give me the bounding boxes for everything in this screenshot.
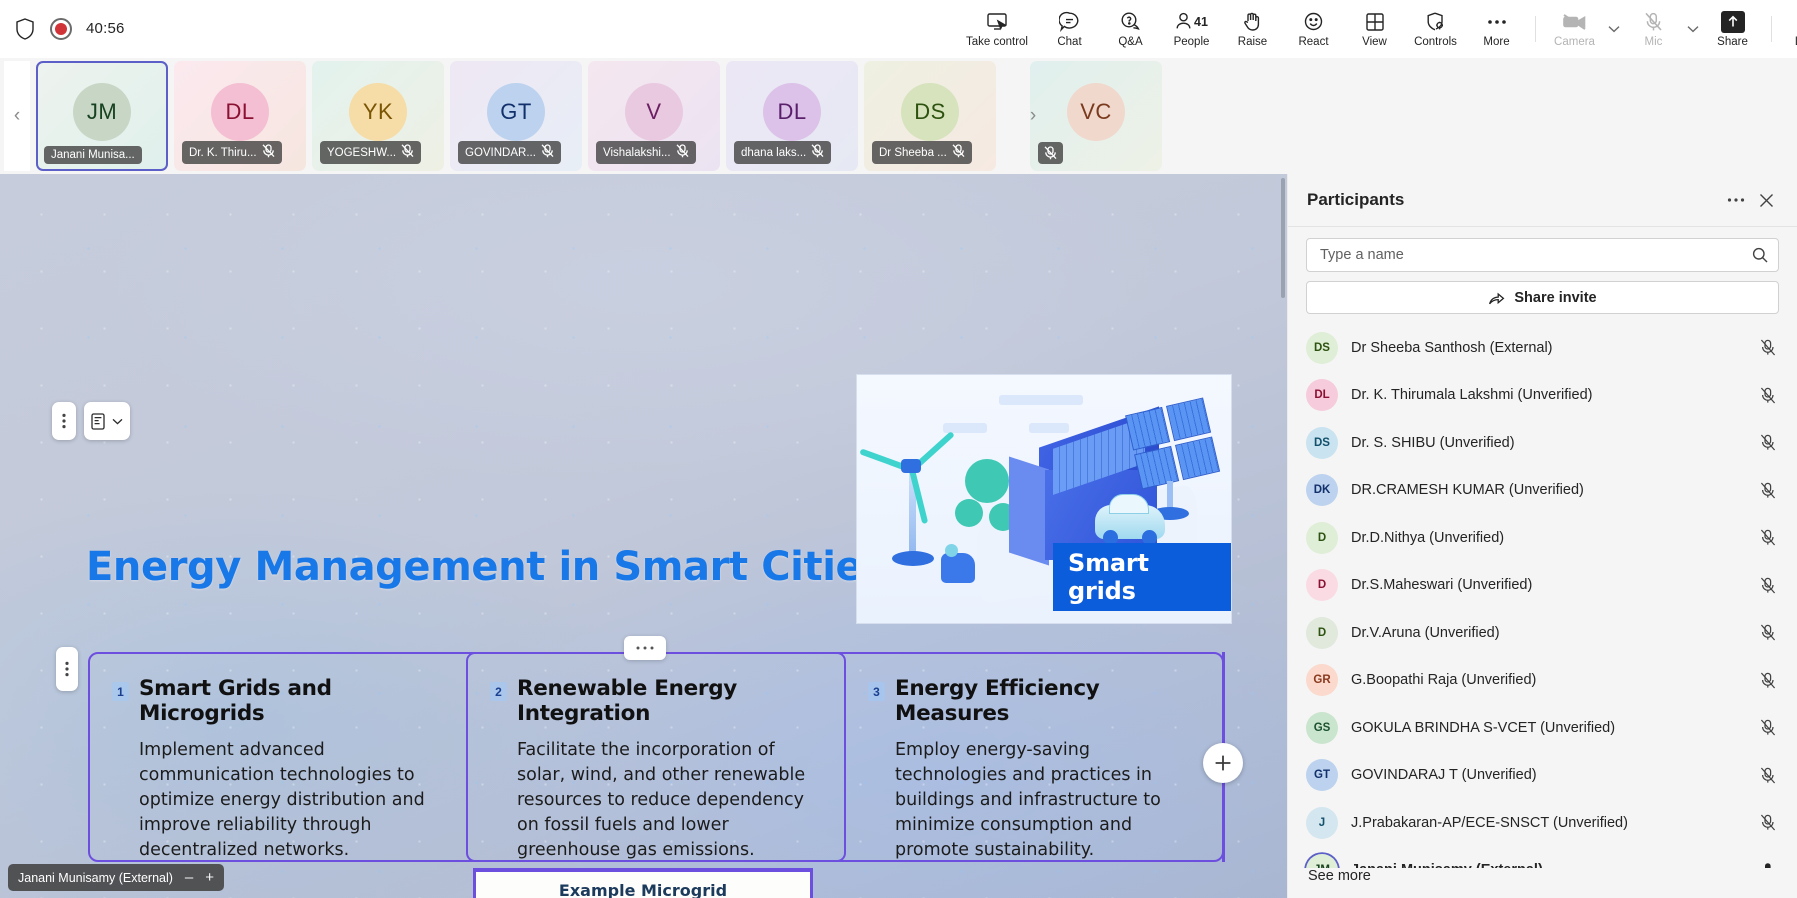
- toolbar-camera-label: Camera: [1554, 36, 1595, 48]
- participant-name: Janani Munisamy (External): [1351, 862, 1744, 868]
- chat-icon: [1059, 11, 1080, 33]
- card-body-3: Employ energy-saving technologies and pr…: [895, 738, 1202, 863]
- avatar: D: [1306, 617, 1338, 649]
- toolbar-react-button[interactable]: React: [1283, 3, 1344, 55]
- see-more-button[interactable]: See more: [1288, 868, 1797, 898]
- mic-off-icon[interactable]: [1757, 672, 1779, 689]
- share-up-arrow-icon: [1721, 11, 1745, 33]
- slide-notes-button[interactable]: [84, 402, 130, 440]
- toolbar-raise-label: Raise: [1238, 36, 1267, 48]
- mic-off-icon: [952, 144, 965, 161]
- toolbar-take-control-label: Take control: [966, 36, 1028, 48]
- record-indicator-icon: [50, 18, 72, 40]
- filmstrip-tiles: JMJanani Munisa...DLDr. K. Thiru...YKYOG…: [36, 61, 1162, 171]
- toolbar-share-button[interactable]: Share: [1702, 3, 1763, 55]
- avatar: DS: [1306, 332, 1338, 364]
- participant-row[interactable]: DLDr. K. Thirumala Lakshmi (Unverified): [1298, 372, 1791, 420]
- participant-row[interactable]: DKDR.CRAMESH KUMAR (Unverified): [1298, 467, 1791, 515]
- slide-title: Energy Management in Smart Cities: [86, 544, 886, 590]
- toolbar-people-label: People: [1174, 36, 1210, 48]
- camera-off-icon: [1563, 11, 1587, 33]
- participant-name: Dr. K. Thirumala Lakshmi (Unverified): [1351, 387, 1744, 403]
- meeting-toolbar: 40:56 Take control Chat Q&A: [0, 0, 1797, 58]
- more-ellipsis-icon: [1486, 11, 1508, 33]
- participant-row[interactable]: DSDr Sheeba Santhosh (External): [1298, 324, 1791, 372]
- filmstrip-tile-vc-7[interactable]: VC: [1030, 61, 1162, 171]
- toolbar-raise-button[interactable]: Raise: [1222, 3, 1283, 55]
- participant-name: Dr.D.Nithya (Unverified): [1351, 530, 1744, 546]
- avatar: JM: [1306, 854, 1338, 868]
- avatar: DK: [1306, 474, 1338, 506]
- search-icon[interactable]: [1752, 247, 1768, 263]
- smart-grids-tag-label: Smart grids: [1053, 543, 1231, 611]
- mic-off-icon: [262, 144, 275, 161]
- more-horizontal-icon: [635, 645, 655, 651]
- card-menu-button[interactable]: [624, 636, 666, 660]
- card-title-3: Energy Efficiency Measures: [895, 676, 1202, 726]
- toolbar-more-button[interactable]: More: [1466, 3, 1527, 55]
- avatar: J: [1306, 807, 1338, 839]
- filmstrip-tile-ds-6[interactable]: DSDr Sheeba ...: [864, 61, 996, 171]
- controls-shield-gear-icon: [1425, 11, 1446, 33]
- participants-close-button[interactable]: [1751, 185, 1781, 215]
- toolbar-divider-2: [1771, 16, 1772, 42]
- mic-off-icon[interactable]: [1757, 719, 1779, 736]
- participants-list[interactable]: DSDr Sheeba Santhosh (External)DLDr. K. …: [1288, 314, 1797, 868]
- mic-options-chevron-down-icon[interactable]: [1684, 3, 1702, 55]
- avatar: YK: [349, 83, 407, 141]
- toolbar-view-label: View: [1362, 36, 1387, 48]
- people-count-badge: 41: [1194, 15, 1208, 29]
- card-title-2: Renewable Energy Integration: [517, 676, 824, 726]
- stage-scrollbar[interactable]: [1279, 174, 1287, 898]
- avatar: GR: [1306, 664, 1338, 696]
- participant-search-box[interactable]: [1306, 238, 1779, 272]
- more-vertical-icon: [65, 661, 69, 677]
- participant-row[interactable]: DDr.S.Maheswari (Unverified): [1298, 562, 1791, 610]
- people-icon: 41: [1175, 11, 1208, 33]
- example-microgrid-image: Example Microgrid Microgrid Controller: [473, 868, 813, 898]
- card-body-2: Facilitate the incorporation of solar, w…: [517, 738, 824, 863]
- avatar: DL: [763, 83, 821, 141]
- toolbar-chat-label: Chat: [1057, 36, 1081, 48]
- participants-panel-title: Participants: [1307, 190, 1721, 210]
- avatar: GT: [487, 83, 545, 141]
- toolbar-controls-button[interactable]: Controls: [1405, 3, 1466, 55]
- toolbar-view-button[interactable]: View: [1344, 3, 1405, 55]
- chevron-down-icon: [112, 418, 123, 425]
- filmstrip-tile-dl-5[interactable]: DLdhana laks...: [726, 61, 858, 171]
- presenter-toast: Janani Munisamy (External) – +: [8, 864, 224, 891]
- slide-card-2: 2 Renewable Energy Integration Facilitat…: [466, 652, 846, 862]
- participant-row[interactable]: GRG.Boopathi Raja (Unverified): [1298, 657, 1791, 705]
- toolbar-left-group: 40:56: [0, 17, 300, 41]
- toolbar-take-control-button[interactable]: Take control: [955, 3, 1039, 55]
- react-smiley-icon: [1303, 11, 1324, 33]
- camera-options-chevron-down-icon[interactable]: [1605, 3, 1623, 55]
- slide-cards-group: 1 Smart Grids and Microgrids Implement a…: [88, 652, 1224, 862]
- share-invite-label: Share invite: [1514, 290, 1596, 306]
- mic-off-icon: [541, 144, 554, 161]
- slide-more-options-button[interactable]: [52, 402, 76, 440]
- teams-meeting-window: 40:56 Take control Chat Q&A: [0, 0, 1797, 898]
- slide-notes-icon: [91, 413, 105, 430]
- toolbar-chat-button[interactable]: Chat: [1039, 3, 1100, 55]
- plus-icon: [1213, 753, 1233, 773]
- participant-filmstrip: ‹ JMJanani Munisa...DLDr. K. Thiru...YKY…: [0, 58, 1797, 174]
- close-icon: [1759, 193, 1774, 208]
- avatar: DL: [1306, 379, 1338, 411]
- participant-name: Dr. S. SHIBU (Unverified): [1351, 435, 1744, 451]
- meeting-body: Energy Management in Smart Cities Smart …: [0, 174, 1797, 898]
- participants-panel-header: Participants: [1288, 174, 1797, 226]
- participant-name: DR.CRAMESH KUMAR (Unverified): [1351, 482, 1744, 498]
- mic-off-icon: [1644, 11, 1663, 33]
- mic-off-icon: [811, 144, 824, 161]
- tile-name-badge: Janani Munisa...: [44, 146, 142, 164]
- participants-panel: Participants Share invite D: [1287, 174, 1797, 898]
- avatar: DS: [901, 83, 959, 141]
- participant-name: Dr.V.Aruna (Unverified): [1351, 625, 1744, 641]
- filmstrip-tile-dl-1[interactable]: DLDr. K. Thiru...: [174, 61, 306, 171]
- avatar: JM: [73, 83, 131, 141]
- avatar: D: [1306, 569, 1338, 601]
- meeting-timer: 40:56: [86, 20, 125, 37]
- presentation-slide: Energy Management in Smart Cities Smart …: [0, 174, 1287, 898]
- participant-row[interactable]: DSDr. S. SHIBU (Unverified): [1298, 419, 1791, 467]
- slide-card-1: 1 Smart Grids and Microgrids Implement a…: [90, 654, 466, 860]
- smart-grids-illustration: Smart grids: [856, 374, 1232, 624]
- toolbar-people-button[interactable]: 41 People: [1161, 3, 1222, 55]
- view-grid-icon: [1365, 11, 1385, 33]
- shared-content-stage: Energy Management in Smart Cities Smart …: [0, 174, 1287, 898]
- add-card-button[interactable]: [1203, 743, 1243, 783]
- toolbar-share-label: Share: [1717, 36, 1748, 48]
- mic-off-icon[interactable]: [1757, 624, 1779, 641]
- filmstrip-tile-gt-3[interactable]: GTGOVINDAR...: [450, 61, 582, 171]
- toolbar-center-group: Take control Chat Q&A 41 People: [955, 0, 1797, 58]
- shield-icon: [14, 17, 36, 41]
- participant-row[interactable]: JJ.Prabakaran-AP/ECE-SNSCT (Unverified): [1298, 799, 1791, 847]
- tile-name-badge: YOGESHW...: [320, 141, 421, 164]
- participant-name: Dr Sheeba Santhosh (External): [1351, 340, 1744, 356]
- presenter-toast-minimize-button[interactable]: –: [185, 870, 193, 885]
- avatar: V: [625, 83, 683, 141]
- participant-name: J.Prabakaran-AP/ECE-SNSCT (Unverified): [1351, 815, 1744, 831]
- toolbar-mic-button[interactable]: Mic: [1623, 3, 1684, 55]
- card-number-1: 1: [112, 682, 129, 701]
- filmstrip-tile-jm-0[interactable]: JMJanani Munisa...: [36, 61, 168, 171]
- participant-name: G.Boopathi Raja (Unverified): [1351, 672, 1744, 688]
- slide-card-3: 3 Energy Efficiency Measures Employ ener…: [846, 654, 1222, 860]
- toolbar-qa-button[interactable]: Q&A: [1100, 3, 1161, 55]
- avatar: DS: [1306, 427, 1338, 459]
- more-vertical-icon: [62, 413, 66, 429]
- mic-off-icon[interactable]: [1757, 387, 1779, 404]
- card-number-3: 3: [868, 682, 885, 701]
- filmstrip-prev-arrow-icon[interactable]: ‹: [4, 61, 30, 171]
- participant-row[interactable]: GTGOVINDARAJ T (Unverified): [1298, 752, 1791, 800]
- filmstrip-next-arrow-icon[interactable]: ›: [1020, 61, 1046, 171]
- tile-name-badge: Vishalakshi...: [596, 141, 696, 164]
- card-title-1: Smart Grids and Microgrids: [139, 676, 446, 726]
- participant-row[interactable]: JMJanani Munisamy (External): [1298, 847, 1791, 869]
- participant-name: GOKULA BRINDHA S-VCET (Unverified): [1351, 720, 1744, 736]
- mic-off-icon[interactable]: [1757, 482, 1779, 499]
- take-control-icon: [986, 11, 1008, 33]
- mic-off-icon[interactable]: [1757, 814, 1779, 831]
- slide-section-options-button[interactable]: [56, 647, 78, 691]
- participant-row[interactable]: DDr.V.Aruna (Unverified): [1298, 609, 1791, 657]
- participants-more-button[interactable]: [1721, 185, 1751, 215]
- participant-row[interactable]: GSGOKULA BRINDHA S-VCET (Unverified): [1298, 704, 1791, 752]
- avatar: D: [1306, 522, 1338, 554]
- qa-icon: [1120, 11, 1142, 33]
- tile-name-badge: dhana laks...: [734, 141, 831, 164]
- avatar: GT: [1306, 759, 1338, 791]
- card-body-1: Implement advanced communication technol…: [139, 738, 446, 863]
- mic-off-icon: [676, 144, 689, 161]
- raise-hand-icon: [1243, 11, 1262, 33]
- share-invite-button[interactable]: Share invite: [1306, 281, 1779, 314]
- presenter-toast-expand-button[interactable]: +: [205, 870, 214, 885]
- mic-off-icon[interactable]: [1757, 577, 1779, 594]
- toolbar-qa-label: Q&A: [1118, 36, 1142, 48]
- mic-on-icon[interactable]: [1757, 862, 1779, 868]
- toolbar-camera-button[interactable]: Camera: [1544, 3, 1605, 55]
- filmstrip-tile-yk-2[interactable]: YKYOGESHW...: [312, 61, 444, 171]
- participant-row[interactable]: DDr.D.Nithya (Unverified): [1298, 514, 1791, 562]
- toolbar-divider-1: [1535, 16, 1536, 42]
- participants-panel-controls: Share invite: [1288, 227, 1797, 314]
- microgrid-diagram: Combined Heat and Power Utility Grid Ren…: [476, 872, 810, 898]
- toolbar-leave-button[interactable]: Leave: [1780, 3, 1797, 55]
- avatar: DL: [211, 83, 269, 141]
- toolbar-more-label: More: [1483, 36, 1509, 48]
- avatar: VC: [1067, 83, 1125, 141]
- card-number-2: 2: [490, 682, 507, 701]
- tile-name-badge: Dr Sheeba ...: [872, 141, 972, 164]
- avatar: GS: [1306, 712, 1338, 744]
- more-horizontal-icon: [1727, 197, 1745, 203]
- share-invite-icon: [1488, 290, 1505, 306]
- mic-off-icon[interactable]: [1757, 767, 1779, 784]
- toolbar-controls-label: Controls: [1414, 36, 1457, 48]
- toolbar-mic-label: Mic: [1645, 36, 1663, 48]
- participant-name: GOVINDARAJ T (Unverified): [1351, 767, 1744, 783]
- mic-off-icon[interactable]: [1757, 529, 1779, 546]
- mic-off-icon[interactable]: [1757, 339, 1779, 356]
- mic-off-icon: [401, 144, 414, 161]
- participant-name: Dr.S.Maheswari (Unverified): [1351, 577, 1744, 593]
- tile-name-badge: Dr. K. Thiru...: [182, 141, 282, 164]
- mic-off-icon[interactable]: [1757, 434, 1779, 451]
- filmstrip-tile-v-4[interactable]: VVishalakshi...: [588, 61, 720, 171]
- presenter-toast-name: Janani Munisamy (External): [18, 871, 173, 885]
- tile-name-badge: GOVINDAR...: [458, 141, 561, 164]
- search-input[interactable]: [1320, 247, 1752, 263]
- toolbar-react-label: React: [1298, 36, 1328, 48]
